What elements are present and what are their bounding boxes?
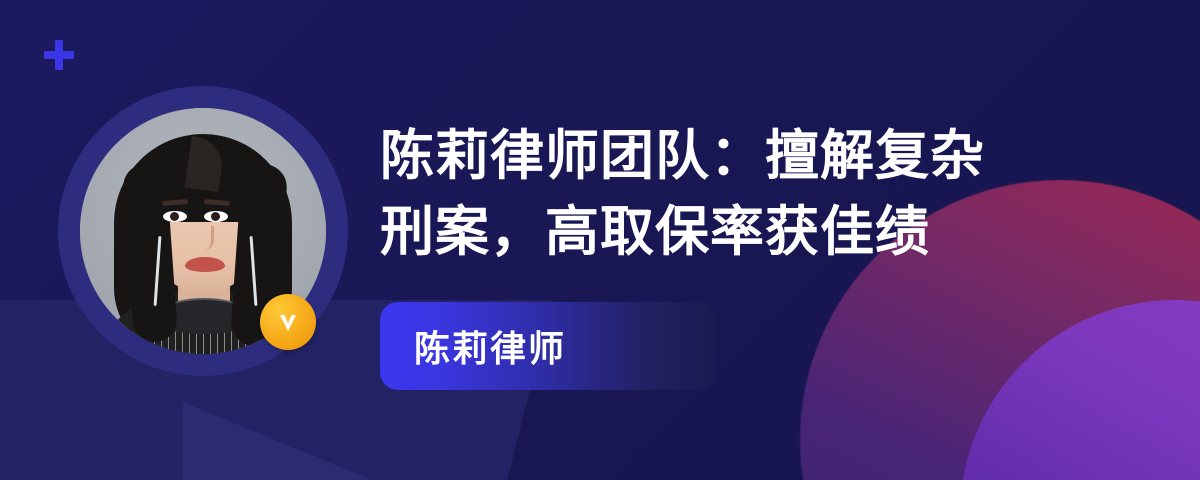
portrait-eye-right: [204, 211, 228, 222]
text-content: 陈莉律师团队：擅解复杂 刑案，高取保率获佳绩 陈莉律师: [380, 118, 1080, 390]
verified-check-icon: [260, 294, 316, 350]
lawyer-name-badge[interactable]: 陈莉律师: [380, 302, 716, 390]
avatar[interactable]: [58, 86, 348, 376]
plus-icon: [42, 38, 76, 72]
portrait-eye-left: [163, 211, 187, 222]
plus-icon-vertical-bar: [55, 40, 63, 70]
promo-banner: 陈莉律师团队：擅解复杂 刑案，高取保率获佳绩 陈莉律师: [0, 0, 1200, 480]
portrait-nose: [197, 226, 214, 250]
background-triangle-wedge: [183, 402, 413, 480]
page-title: 陈莉律师团队：擅解复杂 刑案，高取保率获佳绩: [380, 118, 1080, 270]
portrait-lips: [185, 257, 225, 272]
